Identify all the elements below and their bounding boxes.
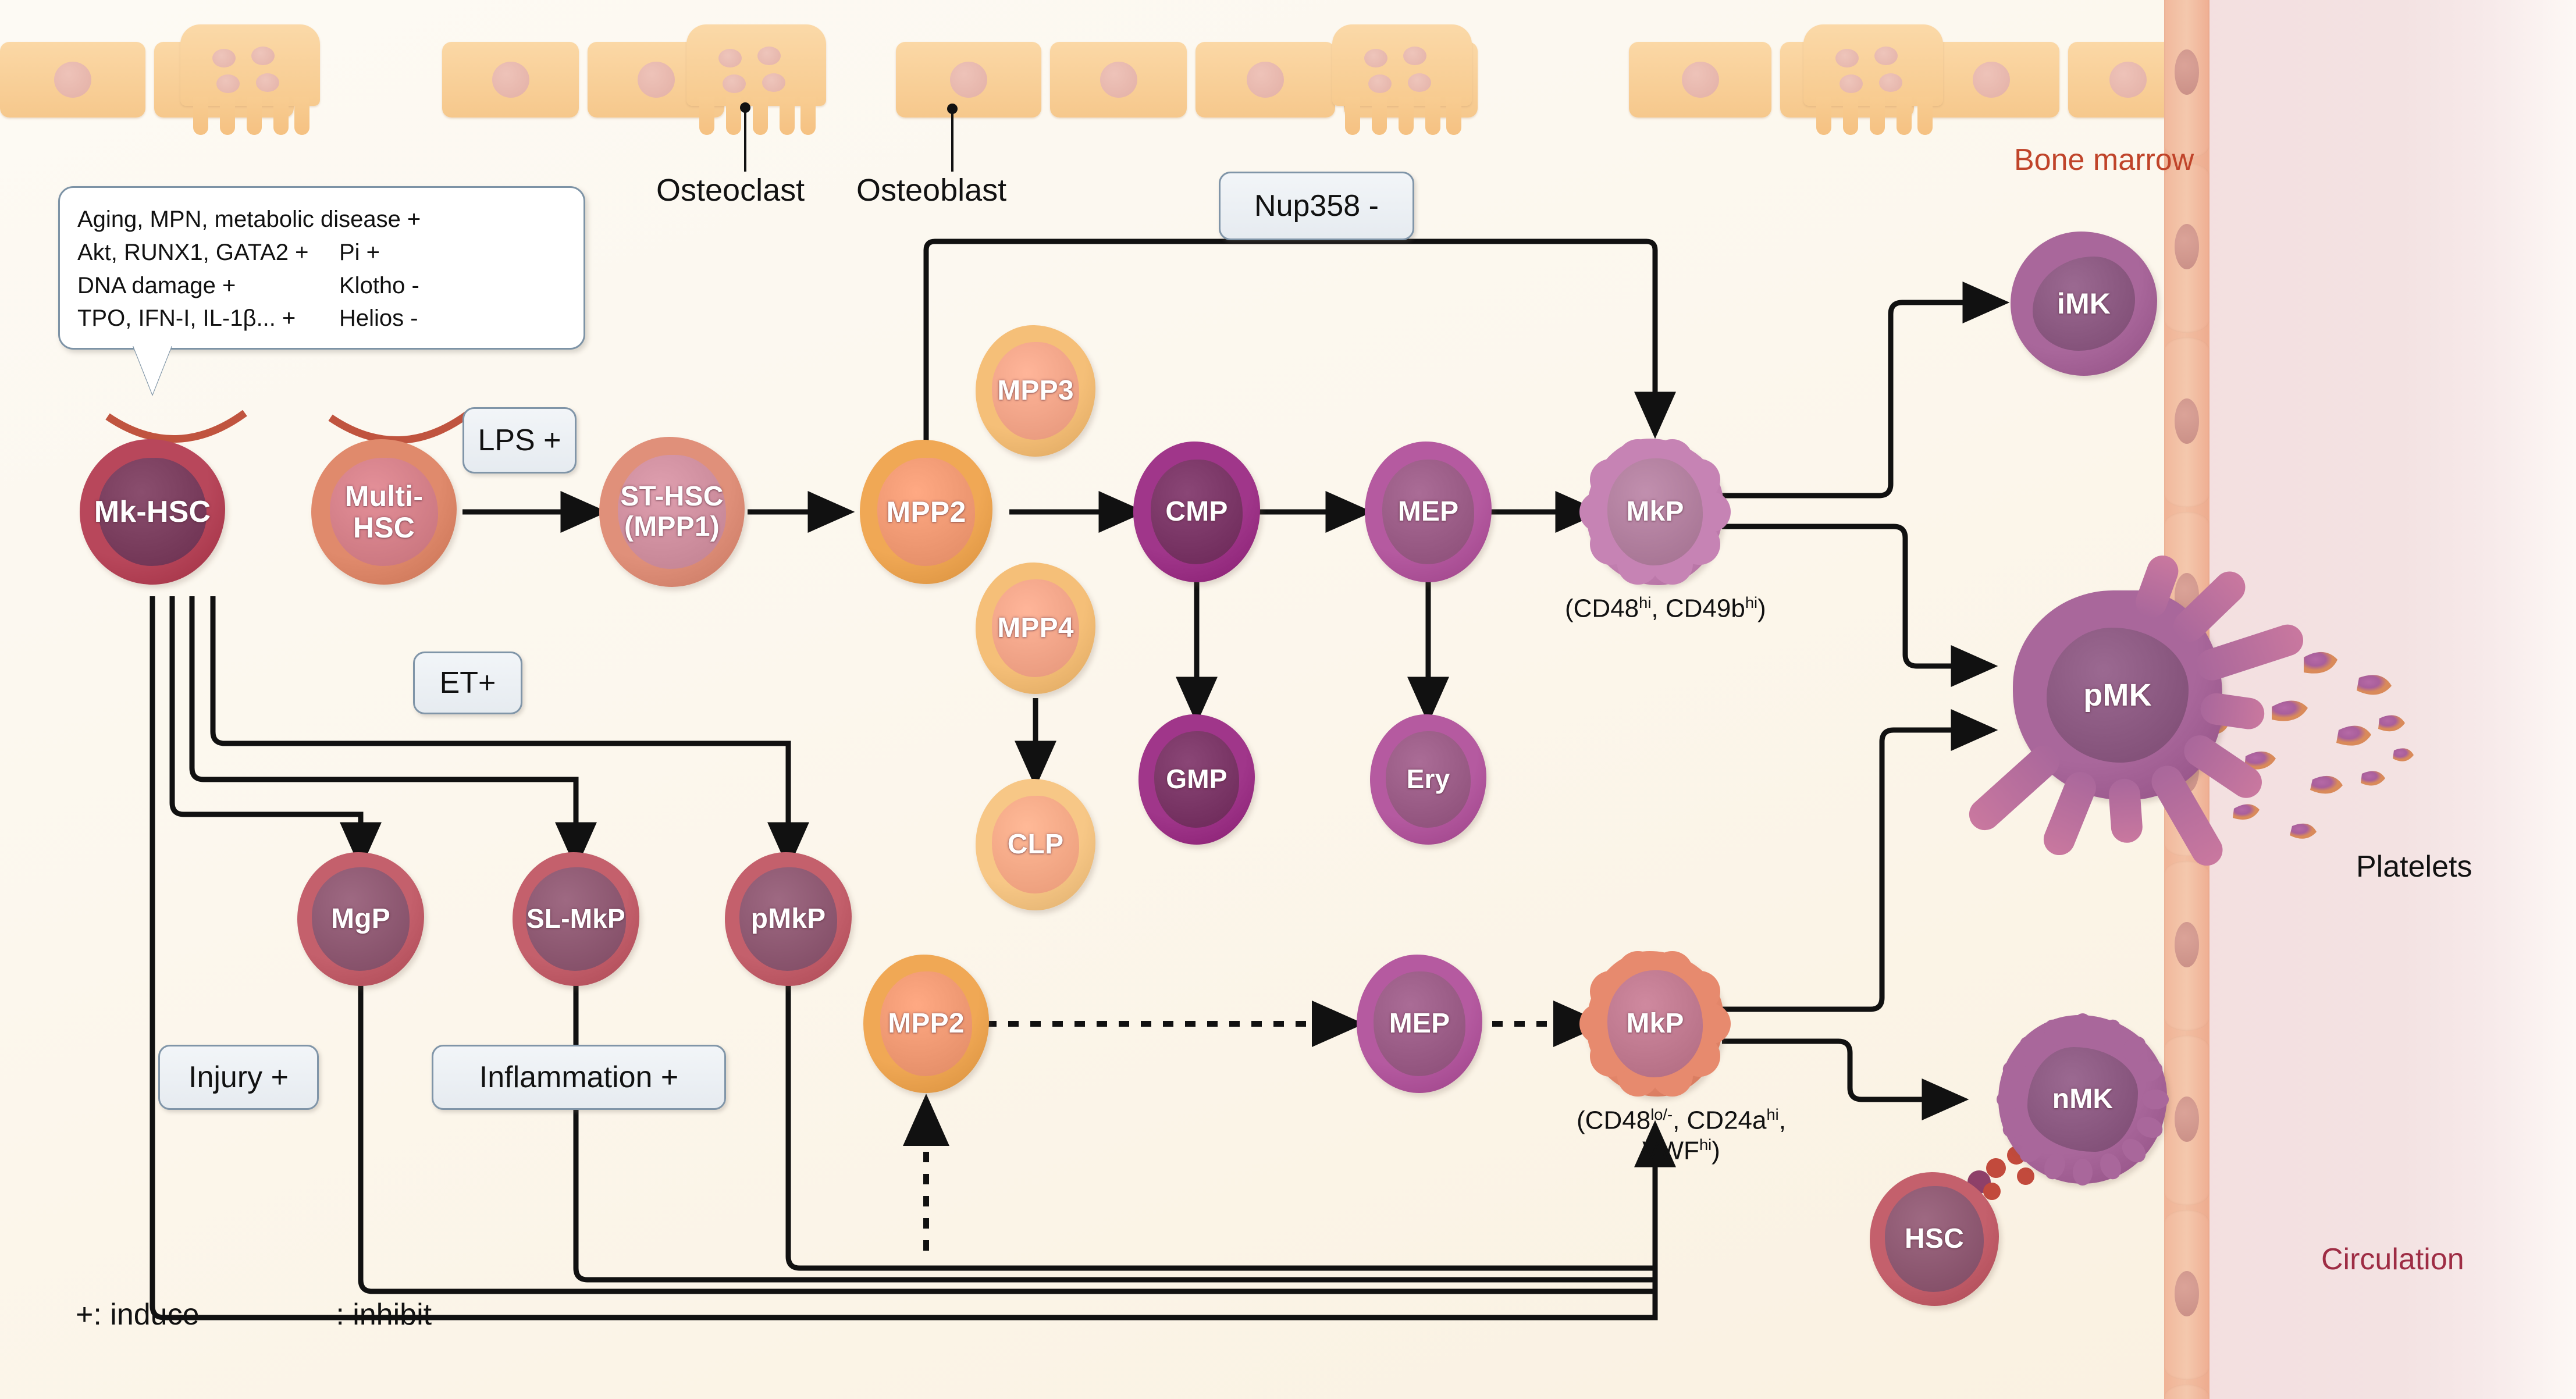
osteoblast-nucleus — [950, 62, 987, 98]
modifier-lps[interactable]: LPS + — [462, 407, 577, 474]
regulator-row: Aging, MPN, metabolic disease + — [77, 203, 566, 236]
osteoclast-foot — [193, 97, 208, 135]
cell-label: MEP — [1398, 497, 1459, 527]
osteoclast-foot — [273, 97, 289, 135]
osteoclast-nucleus — [723, 74, 746, 93]
figure-canvas: Osteoclast Osteoblast Bone marrow Circul… — [0, 0, 2576, 1399]
cell-imk[interactable]: iMK — [2011, 232, 2157, 376]
marker-text: , CD24a — [1673, 1106, 1766, 1135]
osteoclast-nucleus — [256, 73, 279, 92]
cell-label: iMK — [2057, 288, 2111, 319]
cell-label: pMK — [2083, 678, 2152, 712]
modifier-injury[interactable]: Injury + — [158, 1045, 319, 1110]
osteoclast-nucleus — [1408, 73, 1431, 92]
osteoclast-foot — [780, 97, 795, 135]
marker-sup: lo/- — [1650, 1105, 1673, 1123]
osteoclast-foot — [800, 97, 816, 135]
cell-label: Ery — [1407, 765, 1450, 794]
osteoblast-cell — [442, 42, 579, 118]
endothelial-cell — [2164, 1384, 2209, 1399]
regulator-left: TPO, IFN-I, IL-1β... + — [77, 302, 339, 335]
marker-text: ) — [1712, 1136, 1720, 1165]
endothelial-nucleus — [2175, 1271, 2199, 1316]
mkp-bot-markers: (CD48lo/-, CD24ahi, VWFhi) — [1565, 1105, 1798, 1165]
cell-mpp4[interactable]: MPP4 — [976, 563, 1095, 694]
cell-label: GMP — [1166, 765, 1227, 794]
modifier-et[interactable]: ET+ — [413, 652, 522, 714]
osteoclast-foot — [1345, 97, 1360, 135]
osteoclast-nucleus — [762, 73, 785, 92]
regulator-left: Aging, MPN, metabolic disease + — [77, 203, 339, 236]
endothelial-cell — [2164, 1035, 2209, 1205]
osteoclast-nucleus — [216, 74, 240, 93]
osteoclast-foot — [699, 97, 714, 135]
bone-lining-strip — [0, 42, 2187, 118]
cell-label: SL-MkP — [526, 905, 625, 934]
circulation-label: Circulation — [2321, 1242, 2464, 1277]
cell-label: MPP2 — [888, 1009, 965, 1039]
osteoclast-foot — [1897, 97, 1912, 135]
endothelial-cell — [2164, 0, 2209, 158]
cell-label: MkP — [1626, 497, 1684, 527]
osteoclast-nucleus — [1874, 47, 1898, 65]
osteoclast-foot — [753, 97, 768, 135]
regulator-right: Helios - — [339, 302, 418, 335]
cell-clp[interactable]: CLP — [976, 779, 1095, 910]
bone-marrow-label: Bone marrow — [2014, 143, 2194, 177]
cell-sl-mkp[interactable]: SL-MkP — [513, 852, 639, 986]
osteoclast-nucleus — [1364, 49, 1387, 67]
osteoblast-nucleus — [492, 62, 529, 98]
osteoclast-nucleus — [1840, 74, 1863, 93]
cell-st-hsc[interactable]: ST-HSC(MPP1) — [599, 437, 745, 587]
upstream-regulators-box: Aging, MPN, metabolic disease + Akt, RUN… — [58, 186, 585, 350]
osteoblast-nucleus — [54, 62, 91, 98]
osteoclast-body — [1332, 24, 1472, 106]
endothelial-cell — [2164, 163, 2209, 333]
osteoclast-nucleus — [1879, 73, 1902, 92]
osteoclast-cell — [1803, 24, 1943, 135]
cell-label: CLP — [1008, 830, 1064, 860]
marker-text: , — [1779, 1106, 1786, 1135]
modifier-nup358[interactable]: Nup358 - — [1219, 172, 1414, 240]
endothelial-nucleus — [2175, 922, 2199, 967]
osteoclast-foot — [1816, 97, 1831, 135]
regulator-left: DNA damage + — [77, 269, 339, 302]
osteoblast-cell — [1923, 42, 2059, 118]
cell-mpp2-bot[interactable]: MPP2 — [863, 955, 989, 1093]
marker-line-1: (CD48lo/-, CD24ahi, — [1565, 1105, 1798, 1135]
cell-mpp3[interactable]: MPP3 — [976, 325, 1095, 457]
osteoblast-nucleus — [1247, 62, 1284, 98]
cell-protrusion — [2142, 1090, 2169, 1109]
osteoblast-cell — [1629, 42, 1771, 118]
cell-mep-bot[interactable]: MEP — [1357, 955, 1482, 1093]
regulator-row: TPO, IFN-I, IL-1β... + Helios - — [77, 302, 566, 335]
cell-mkp-top[interactable]: MkP — [1586, 439, 1724, 585]
marker-text: , CD49b — [1651, 595, 1745, 623]
osteoclast-foot — [1870, 97, 1885, 135]
osteoclast-cell — [180, 24, 320, 135]
legend-inhibit: -: inhibit — [326, 1297, 432, 1332]
osteoclast-nucleus — [1835, 49, 1859, 67]
osteoclast-nucleus — [757, 47, 781, 65]
cell-protrusion — [1997, 1090, 2023, 1109]
infobox-pointer — [133, 344, 172, 394]
cell-label: MPP2 — [887, 496, 966, 528]
cell-mep-top[interactable]: MEP — [1365, 442, 1492, 582]
osteoclast-nucleus — [718, 49, 742, 67]
cell-label: pMkP — [751, 904, 826, 934]
osteoblast-cell — [896, 42, 1041, 118]
cell-label: MgP — [331, 904, 390, 934]
osteoclast-foot — [1843, 97, 1858, 135]
regulator-row: Akt, RUNX1, GATA2 + Pi + — [77, 236, 566, 269]
proplatelet-extension — [2108, 778, 2144, 843]
osteoclast-nucleus — [251, 47, 275, 65]
cell-label: HSC — [1905, 1224, 1964, 1254]
cell-mpp2-top[interactable]: MPP2 — [860, 440, 992, 584]
marker-sup: hi — [1767, 1105, 1779, 1123]
osteoclast-foot — [247, 97, 262, 135]
osteoclast-nucleus — [1403, 47, 1426, 65]
osteoclast-foot — [726, 97, 741, 135]
marker-sup: hi — [1699, 1135, 1712, 1154]
cell-label: CMP — [1165, 497, 1227, 527]
cell-ery[interactable]: Ery — [1370, 714, 1486, 845]
cell-label: MEP — [1389, 1009, 1450, 1039]
cell-multi-hsc[interactable]: Multi-HSC — [311, 439, 457, 585]
regulator-right: Klotho - — [339, 269, 419, 302]
cell-label: MPP3 — [997, 376, 1074, 406]
regulator-left: Akt, RUNX1, GATA2 + — [77, 236, 339, 269]
osteoclast-body — [1803, 24, 1943, 106]
osteoblast-leader-line — [951, 109, 953, 172]
osteoclast-nucleus — [212, 49, 236, 67]
cell-hsc[interactable]: HSC — [1870, 1172, 1999, 1306]
osteoclast-foot — [220, 97, 235, 135]
osteoblast-cell — [0, 42, 145, 118]
osteoblast-cell — [1050, 42, 1187, 118]
regulator-row: DNA damage + Klotho - — [77, 269, 566, 302]
osteoblast-cell — [1196, 42, 1335, 118]
endothelial-cell — [2164, 861, 2209, 1031]
marker-sup: hi — [1745, 593, 1757, 611]
osteoclast-cell — [686, 24, 826, 135]
osteoclast-foot — [1399, 97, 1414, 135]
osteoclast-body — [180, 24, 320, 106]
osteoblast-nucleus — [1100, 62, 1137, 98]
cell-cmp[interactable]: CMP — [1133, 442, 1260, 582]
endothelial-nucleus — [2175, 49, 2199, 95]
cell-gmp[interactable]: GMP — [1138, 714, 1255, 845]
osteoblast-nucleus — [1682, 62, 1719, 98]
marker-sup: hi — [1639, 593, 1651, 611]
osteoclast-foot — [1917, 97, 1933, 135]
osteoclast-foot — [1425, 97, 1440, 135]
marker-text: VWF — [1642, 1136, 1699, 1165]
cell-protrusion — [2073, 1159, 2093, 1186]
endothelial-cell — [2164, 1210, 2209, 1380]
osteoclast-cell — [1332, 24, 1472, 135]
legend-induce: +: induce — [76, 1297, 200, 1332]
cell-label: ST-HSC(MPP1) — [620, 482, 723, 542]
modifier-inflammation[interactable]: Inflammation + — [432, 1045, 726, 1110]
cell-mk-hsc[interactable]: Mk-HSC — [80, 439, 225, 585]
cell-mgp[interactable]: MgP — [297, 852, 424, 986]
platelets-label: Platelets — [2356, 849, 2472, 884]
cell-label: Multi-HSC — [345, 480, 423, 543]
cell-mkp-bot[interactable]: MkP — [1586, 951, 1724, 1097]
cell-label: MkP — [1626, 1009, 1684, 1039]
endothelial-nucleus — [2175, 398, 2199, 444]
cell-label: Mk-HSC — [94, 496, 211, 528]
endothelial-nucleus — [2175, 1097, 2199, 1142]
osteoblast-label: Osteoblast — [856, 172, 1006, 208]
osteoclast-nucleus — [1368, 74, 1392, 93]
endothelial-cell — [2164, 337, 2209, 507]
cell-protrusion — [2073, 1013, 2093, 1040]
osteoblast-nucleus — [1973, 62, 2010, 98]
cell-pmkp[interactable]: pMkP — [725, 852, 852, 986]
cell-label: nMK — [2052, 1084, 2114, 1115]
osteoclast-label: Osteoclast — [656, 172, 805, 208]
osteoclast-foot — [1372, 97, 1387, 135]
marker-text: (CD48 — [1565, 595, 1639, 623]
cell-nmk[interactable]: nMK — [1998, 1015, 2167, 1184]
osteoclast-leader-line — [744, 108, 746, 172]
marker-text: ) — [1757, 595, 1766, 623]
cell-label: MPP4 — [997, 613, 1074, 643]
osteoclast-foot — [294, 97, 309, 135]
osteoblast-nucleus — [638, 62, 675, 98]
cell-pmk[interactable]: pMK — [2013, 590, 2222, 800]
regulator-right: Pi + — [339, 236, 380, 269]
osteoclast-body — [686, 24, 826, 106]
osteoclast-foot — [1446, 97, 1461, 135]
marker-text: (CD48 — [1577, 1106, 1650, 1135]
osteoblast-nucleus — [2109, 62, 2147, 98]
mkp-top-markers: (CD48hi, CD49bhi) — [1565, 593, 1766, 624]
endothelial-nucleus — [2175, 224, 2199, 269]
marker-line-2: VWFhi) — [1565, 1135, 1798, 1166]
